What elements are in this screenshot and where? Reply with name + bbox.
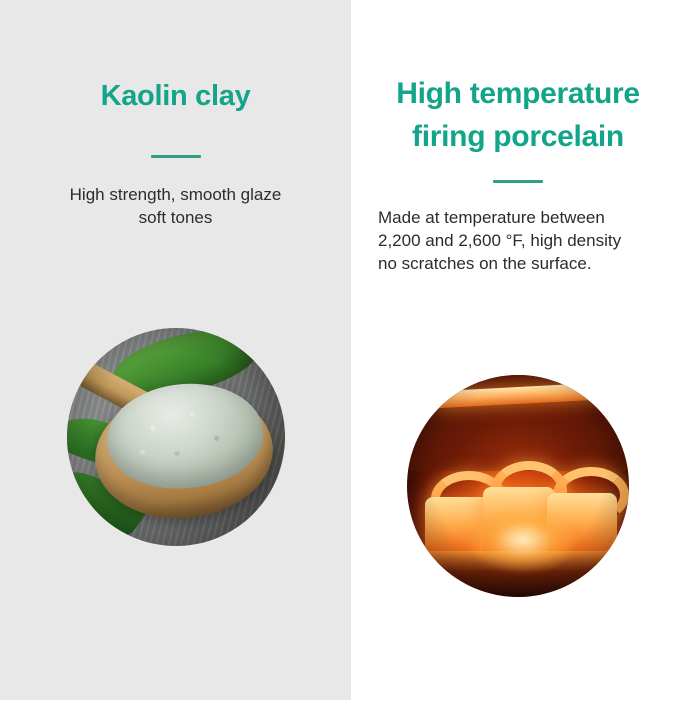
product-feature-infographic: Kaolin clay High strength, smooth glaze …	[0, 0, 679, 714]
panel-body-high-temperature-firing: Made at temperature between 2,200 and 2,…	[372, 206, 664, 275]
feature-panel-kaolin-clay: Kaolin clay High strength, smooth glaze …	[0, 0, 351, 700]
kiln-firing-photo	[407, 375, 629, 597]
photo-vignette	[407, 375, 629, 597]
panel-body-line: High strength, smooth glaze	[70, 185, 282, 204]
clay-photo-scene	[67, 328, 285, 546]
photo-vignette	[67, 328, 285, 546]
kaolin-clay-photo	[67, 328, 285, 546]
title-divider-right	[493, 180, 543, 183]
kiln-photo-scene	[407, 375, 629, 597]
title-divider-left	[151, 155, 201, 158]
panel-body-line: Made at temperature between	[378, 208, 605, 227]
feature-panels: Kaolin clay High strength, smooth glaze …	[0, 0, 679, 700]
panel-title-high-temperature-firing: High temperature firing porcelain	[368, 0, 668, 158]
panel-body-line: no scratches on the surface.	[378, 254, 592, 273]
panel-title-kaolin-clay: Kaolin clay	[26, 0, 326, 116]
panel-body-line: 2,200 and 2,600 °F, high density	[378, 231, 621, 250]
panel-body-kaolin-clay: High strength, smooth glaze soft tones	[31, 183, 321, 229]
panel-title-line: firing porcelain	[412, 120, 624, 153]
panel-body-line: soft tones	[139, 208, 213, 227]
feature-panel-high-temperature-firing: High temperature firing porcelain Made a…	[357, 0, 679, 700]
panel-title-line: High temperature	[396, 77, 640, 110]
